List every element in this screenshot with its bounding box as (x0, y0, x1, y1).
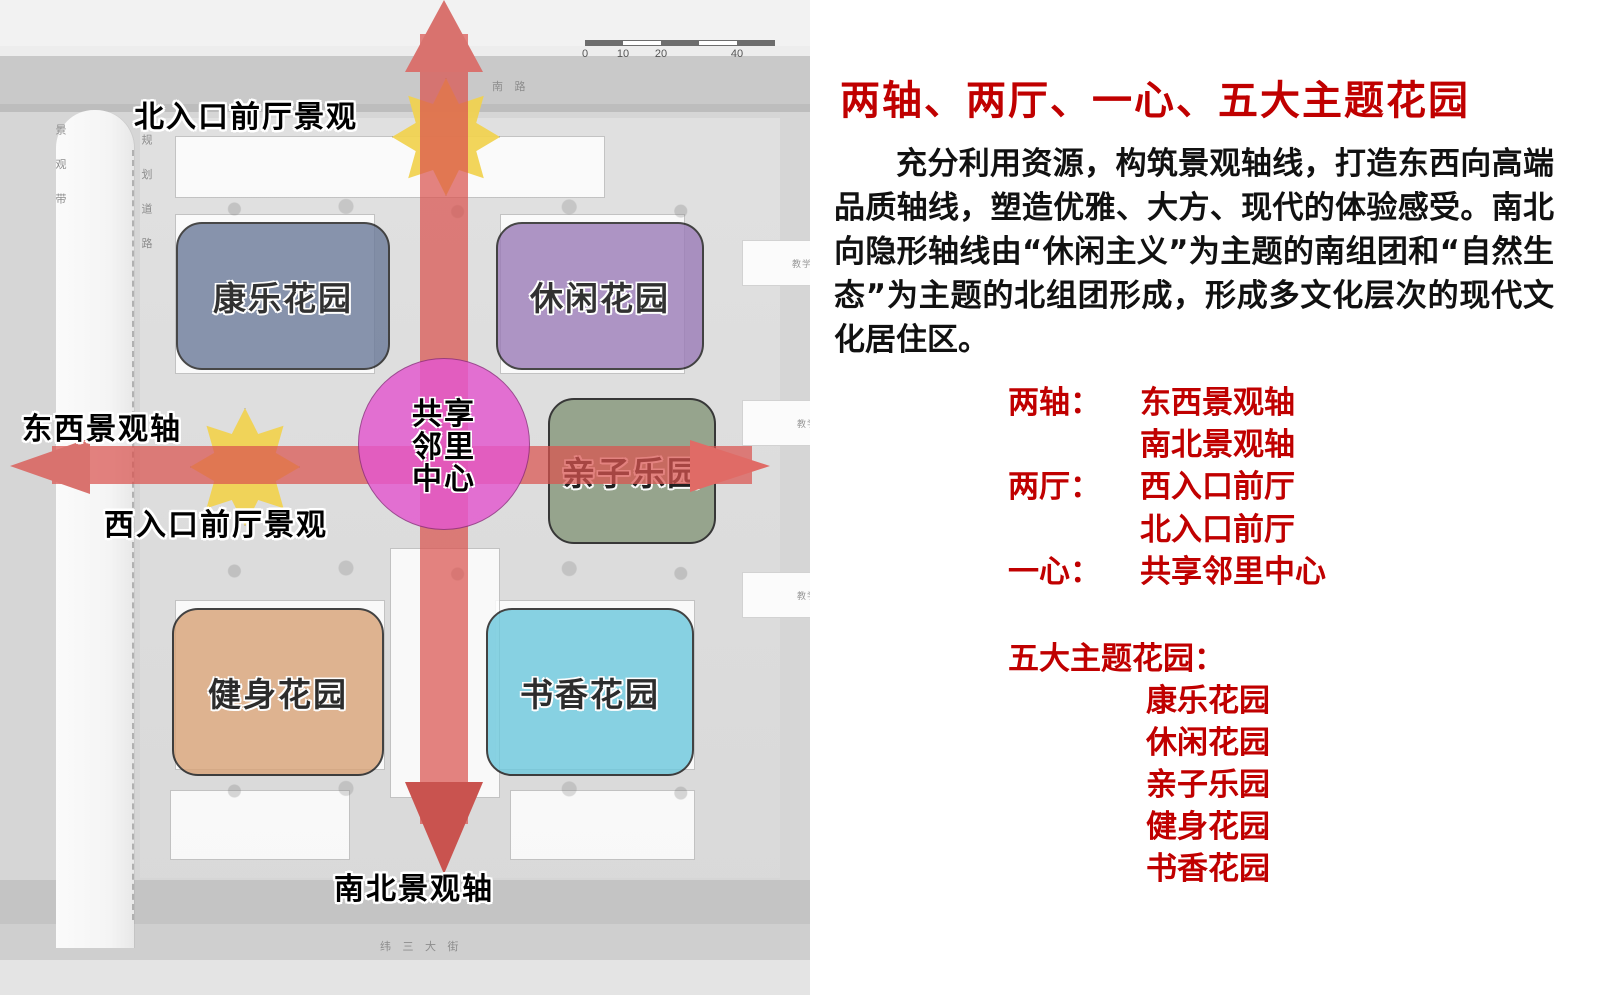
school-building-box: 教学楼（ (742, 572, 810, 618)
concept-value: 北入口前厅 (1140, 509, 1295, 551)
gardens-list-heading: 五大主题花园： (1008, 633, 1560, 678)
site-plan-map: 教学楼（现 教学楼（ 教学楼（ 0 10 20 40 南 路 纬 三 大 街 景 (0, 0, 810, 995)
scale-tick: 10 (617, 48, 629, 60)
concept-row-two-halls: 两厅： 西入口前厅 (1008, 466, 1560, 508)
garden-block-jianshen[interactable]: 健身花园 (172, 608, 384, 776)
garden-list-item: 康乐花园 (1146, 680, 1560, 722)
school-building-box: 教学楼（现 (742, 240, 810, 286)
concept-row-two-axes: 两轴： 东西景观轴 (1008, 382, 1560, 424)
concept-list: 两轴： 东西景观轴 两轴： 南北景观轴 两厅： 西入口前厅 两厅： 北入口前厅 … (1008, 382, 1560, 593)
garden-label: 书香花园 (520, 668, 660, 716)
map-label-east-west-axis: 东西景观轴 (22, 404, 182, 448)
scale-bar-segments (585, 40, 775, 46)
school-building-box: 教学楼（ (742, 400, 810, 446)
garden-label: 康乐花园 (213, 272, 353, 320)
building-footprint (175, 136, 605, 198)
garden-list-item: 健身花园 (1146, 806, 1560, 848)
garden-label: 健身花园 (208, 668, 348, 716)
scale-tick: 40 (731, 48, 743, 60)
concept-row-two-axes-cont: 两轴： 南北景观轴 (1008, 424, 1560, 466)
garden-list-item: 休闲花园 (1146, 722, 1560, 764)
garden-list-item: 书香花园 (1146, 848, 1560, 890)
concept-value: 西入口前厅 (1140, 466, 1295, 508)
tree-band (160, 196, 780, 222)
panel-title: 两轴、两厅、一心、五大主题花园 (840, 68, 1560, 126)
map-scale-bar: 0 10 20 40 (585, 40, 775, 62)
map-label-north-south-axis: 南北景观轴 (334, 864, 494, 908)
concept-value: 共享邻里中心 (1140, 551, 1326, 593)
garden-list-item: 亲子乐园 (1146, 764, 1560, 806)
street-label-bottom: 纬 三 大 街 (380, 938, 463, 954)
tree-band (160, 556, 780, 586)
scale-tick: 20 (655, 48, 667, 60)
garden-block-xiuxian[interactable]: 休闲花园 (496, 222, 704, 370)
concept-value: 南北景观轴 (1140, 424, 1295, 466)
concept-key: 两轴： (1008, 382, 1140, 424)
concept-row-one-center: 一心： 共享邻里中心 (1008, 551, 1560, 593)
concept-value: 东西景观轴 (1140, 382, 1295, 424)
garden-label: 休闲花园 (530, 272, 670, 320)
concept-row-two-halls-cont: 两厅： 北入口前厅 (1008, 509, 1560, 551)
garden-block-shuxiang[interactable]: 书香花园 (486, 608, 694, 776)
slide-root: 教学楼（现 教学楼（ 教学楼（ 0 10 20 40 南 路 纬 三 大 街 景 (0, 0, 1600, 995)
concept-key: 一心： (1008, 551, 1140, 593)
street-label-top: 南 路 (492, 78, 530, 94)
scale-tick: 0 (582, 48, 588, 60)
green-belt-vertical-label: 景 观 带 (52, 124, 68, 594)
garden-block-kangle[interactable]: 康乐花园 (176, 222, 390, 370)
scale-bar-ticks: 0 10 20 40 (585, 48, 775, 62)
shared-neighborhood-center-circle[interactable] (358, 358, 530, 530)
description-panel: 两轴、两厅、一心、五大主题花园 充分利用资源，构筑景观轴线，打造东西向高端品质轴… (810, 0, 1600, 995)
map-label-west-entry: 西入口前厅景观 (104, 500, 328, 544)
panel-body-paragraph: 充分利用资源，构筑景观轴线，打造东西向高端品质轴线，塑造优雅、大方、现代的体验感… (834, 142, 1554, 362)
concept-key: 两厅： (1008, 466, 1140, 508)
map-label-north-entry: 北入口前厅景观 (134, 92, 358, 136)
